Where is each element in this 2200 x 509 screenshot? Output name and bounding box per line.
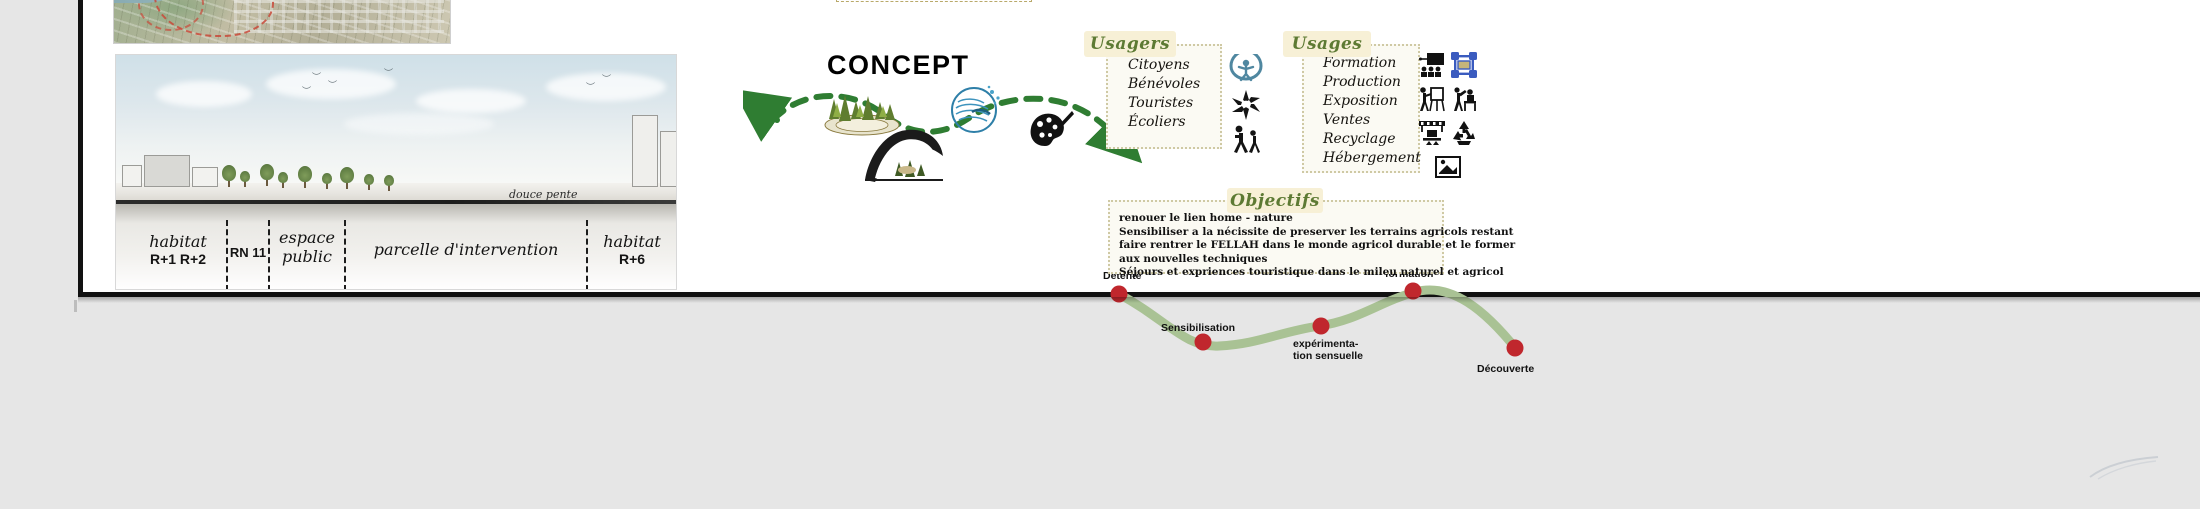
usagers-icon-column	[1225, 54, 1269, 160]
journey-label-experimentation: expérimenta- tion sensuelle	[1293, 338, 1367, 362]
presentation-board: Thème Centre de sensibilisation envers l…	[78, 0, 2200, 297]
objectifs-tag: Objectifs	[1227, 188, 1323, 213]
market-stall-icon	[1419, 120, 1445, 146]
corner-swoosh-mark	[2088, 455, 2160, 481]
paint-palette-icon	[1028, 108, 1074, 148]
recycling-icon	[1451, 120, 1477, 146]
journey-label-decouverte: Découverte	[1477, 363, 1534, 375]
usages-tag: Usages	[1283, 31, 1371, 57]
zone-road: RN 11	[228, 242, 268, 261]
usages-item-3: Ventes	[1323, 111, 1421, 130]
cave-landscape-icon	[861, 122, 947, 184]
usagers-item-1: Bénévoles	[1128, 75, 1200, 94]
site-section-drawing: ︶ ︶ ︶ ︶ ︶ ︶ douce	[115, 54, 677, 290]
zone-parcel: parcelle d'intervention	[348, 240, 584, 259]
lodging-bed-icon	[1435, 154, 1461, 180]
objectifs-line-0: renouer le lien home - nature	[1119, 212, 1437, 226]
objectifs-text: renouer le lien home - nature Sensibilis…	[1119, 212, 1437, 280]
people-circle-icon	[1229, 54, 1263, 84]
usagers-tag: Usagers	[1084, 31, 1176, 57]
usages-icon-grid	[1419, 52, 1481, 178]
usagers-item-2: Touristes	[1128, 94, 1200, 113]
concept-title: CONCEPT	[827, 50, 970, 81]
usages-item-4: Recyclage	[1323, 130, 1421, 149]
slope-label: douce pente	[509, 188, 577, 201]
board-drop-shadow	[78, 297, 2200, 303]
section-zone-labels: habitat R+1 R+2 RN 11 espace public parc…	[116, 220, 676, 290]
experience-journey-curve: Détente Sensibilisation expérimenta- tio…	[1103, 268, 1583, 396]
presentation-screen-icon	[1419, 52, 1445, 78]
objectifs-line-3: aux nouvelles techniques	[1119, 253, 1437, 267]
easel-painting-icon	[1419, 86, 1445, 112]
usages-list: Formation Production Exposition Ventes R…	[1323, 54, 1421, 168]
usagers-item-0: Citoyens	[1128, 56, 1200, 75]
objectifs-line-1: Sensibiliser a la nécissite de preserver…	[1119, 226, 1437, 240]
walking-family-icon	[1229, 124, 1263, 154]
usages-item-5: Hébergement	[1323, 149, 1421, 168]
aerial-site-photo	[113, 0, 451, 44]
theme-caption-box: Centre de sensibilisation envers l'agroe…	[836, 0, 1032, 2]
zone-habitat-left: habitat R+1 R+2	[132, 232, 224, 268]
zone-public-space: espace public	[272, 228, 342, 266]
concept-diagram	[743, 80, 1163, 190]
water-wave-icon	[948, 80, 1004, 136]
usagers-item-3: Écoliers	[1128, 113, 1200, 132]
zone-habitat-right: habitat R+6	[590, 232, 674, 268]
objectifs-line-2: faire rentrer le FELLAH dans le monde ag…	[1119, 239, 1437, 253]
left-edge-tick	[74, 300, 77, 312]
hands-star-icon	[1230, 88, 1262, 120]
journey-label-sensibilisation: Sensibilisation	[1161, 322, 1235, 334]
usages-item-1: Production	[1323, 73, 1421, 92]
objectifs-line-4: Séjours et expriences touristique dans l…	[1119, 266, 1437, 280]
production-machine-icon	[1451, 52, 1477, 78]
board-canvas: Thème Centre de sensibilisation envers l…	[83, 0, 2200, 292]
usagers-list: Citoyens Bénévoles Touristes Écoliers	[1128, 56, 1200, 132]
usages-item-2: Exposition	[1323, 92, 1421, 111]
sales-counter-icon	[1451, 86, 1477, 112]
